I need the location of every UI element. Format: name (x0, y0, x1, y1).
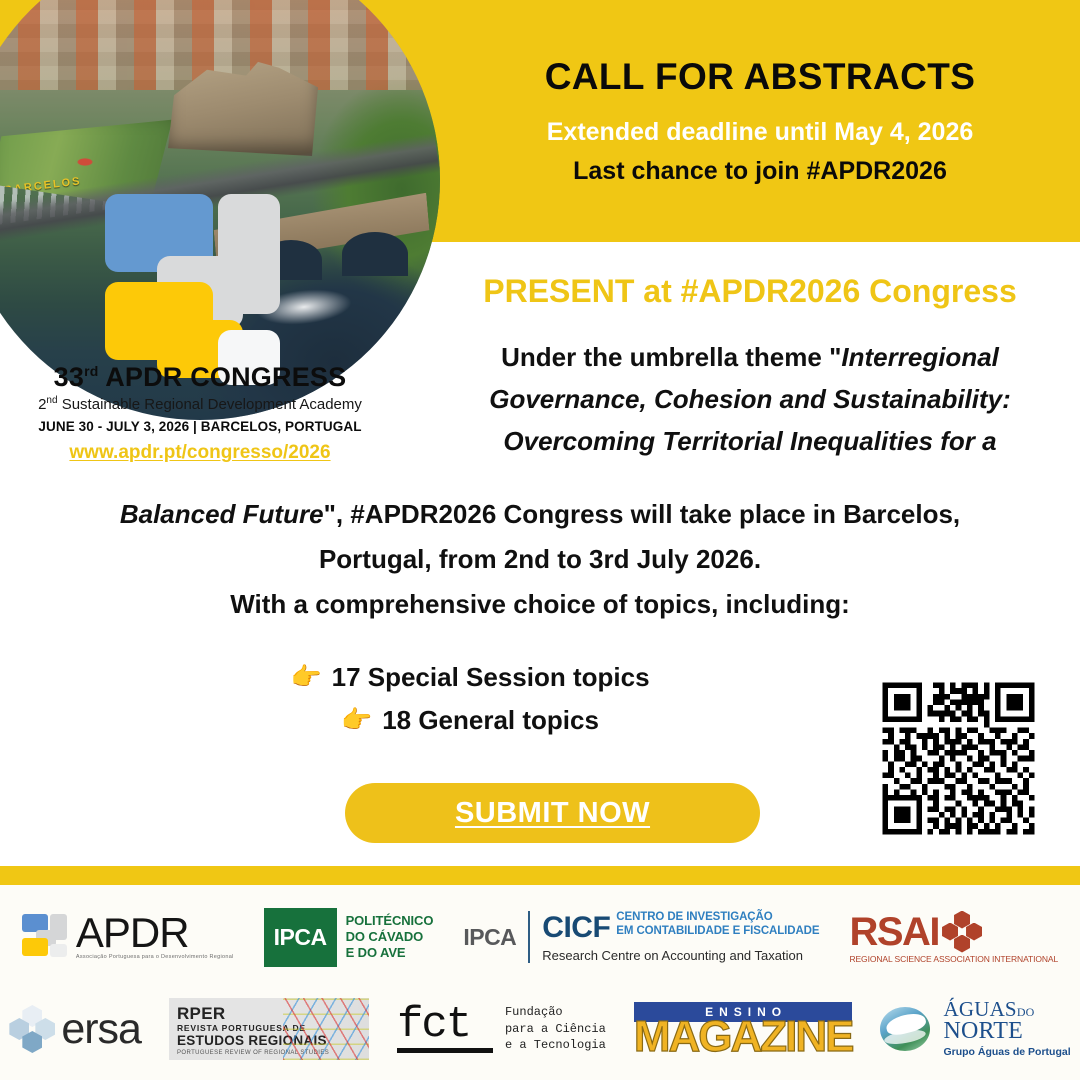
congress-subtitle: 2nd Sustainable Regional Development Aca… (0, 395, 400, 413)
apdr-mark-icon (22, 914, 68, 960)
aguas-tagline: Grupo Águas de Portugal (943, 1046, 1070, 1058)
water-swirl-icon (880, 1003, 938, 1055)
apdr-tagline: Associação Portuguesa para o Desenvolvim… (76, 954, 234, 960)
fct-tag-line-1: Fundação (505, 1004, 606, 1021)
topic-label: 17 Special Session topics (332, 662, 650, 693)
fct-logo: fct Fundação para a Ciência e a Tecnolog… (397, 1004, 606, 1054)
divider (528, 911, 530, 963)
congress-title: 33rd APDR CONGRESS (0, 362, 400, 393)
norte-word: NORTE (943, 1020, 1070, 1043)
photo-bridge-arch (342, 232, 408, 276)
list-item: 👉 18 General topics (120, 705, 820, 736)
ipca-politecnico-logo: IPCA POLITÉCNICO DO CÁVADO E DO AVE (264, 908, 434, 967)
qr-code-svg (877, 677, 1040, 840)
politecnico-line-2: DO CÁVADO (346, 929, 434, 945)
politecnico-line-3: E DO AVE (346, 945, 434, 961)
ersa-wordmark: ersa (61, 1005, 141, 1054)
congress-dates: JUNE 30 - JULY 3, 2026 | BARCELOS, PORTU… (0, 419, 400, 434)
ipca-grey-mark-icon: IPCA (463, 924, 516, 951)
list-item: 👉 17 Special Session topics (120, 662, 820, 693)
topics-intro: With a comprehensive choice of topics, i… (230, 589, 850, 619)
cicf-pt-line-1: CENTRO DE INVESTIGAÇÃO (616, 911, 772, 923)
cicf-portuguese-name: CENTRO DE INVESTIGAÇÃO EM CONTABILIDADE … (616, 911, 819, 938)
last-chance-text: Last chance to join #APDR2026 (573, 157, 947, 186)
page-title: CALL FOR ABSTRACTS (545, 56, 976, 98)
fct-wordmark: fct (397, 1005, 493, 1045)
theme-line-5: Portugal, from 2nd to 3rd July 2026. (319, 544, 761, 574)
magazine-wordmark: MAGAZINE (634, 1018, 853, 1055)
theme-italic-line-1: Interregional (841, 342, 998, 372)
ensino-magazine-logo: ENSINO MAGAZINE (634, 1002, 853, 1055)
apdr-wordmark: APDR (76, 914, 234, 952)
sponsor-row-1: APDR Associação Portuguesa para o Desenv… (0, 885, 1080, 983)
rsai-logo: RSAI REGIONAL SCIENCE ASSOCIATION INTERN… (849, 911, 1058, 964)
aguas-line-1: ÁGUASDO (943, 1000, 1070, 1020)
body-paragraph: Balanced Future", #APDR2026 Congress wil… (40, 492, 1040, 627)
pointing-hand-icon: 👉 (341, 708, 372, 733)
ersa-logo: ersa (9, 1005, 141, 1054)
cicf-pt-line-2: EM CONTABILIDADE E FISCALIDADE (616, 925, 819, 937)
theme-italic-line-2: Governance, Cohesion and Sustainability: (489, 384, 1011, 414)
submit-now-button[interactable]: SUBMIT NOW (345, 783, 760, 843)
apdr-block-yellow (22, 938, 48, 956)
apdr-block-white (50, 944, 67, 957)
theme-italic-line-4: Balanced Future (120, 499, 324, 529)
topics-list: 👉 17 Special Session topics 👉 18 General… (120, 662, 820, 748)
theme-intro-text: Under the umbrella theme " (501, 342, 841, 372)
apdr-block-logo-icon (100, 190, 290, 345)
pointing-hand-icon: 👉 (290, 665, 321, 690)
header-text-group: CALL FOR ABSTRACTS Extended deadline unt… (440, 0, 1080, 242)
rsai-acronym: RSAI (849, 913, 939, 951)
fct-tag-line-3: e a Tecnologia (505, 1037, 606, 1054)
sponsor-row-2: ersa RPER REVISTA PORTUGUESA DE ESTUDOS … (0, 983, 1080, 1075)
footer-sponsors: APDR Associação Portuguesa para o Desenv… (0, 885, 1080, 1080)
fct-tag-line-2: para a Ciência (505, 1021, 606, 1038)
fct-tagline: Fundação para a Ciência e a Tecnologia (505, 1004, 606, 1054)
apdr-logo: APDR Associação Portuguesa para o Desenv… (22, 914, 234, 960)
rper-network-graphic (283, 998, 369, 1060)
congress-lockup: 33rd APDR CONGRESS 2nd Sustainable Regio… (0, 362, 400, 464)
aguas-do-word: DO (1017, 1005, 1035, 1019)
politecnico-text: POLITÉCNICO DO CÁVADO E DO AVE (346, 913, 434, 961)
footer-divider (0, 866, 1080, 885)
rsai-tagline: REGIONAL SCIENCE ASSOCIATION INTERNATION… (849, 954, 1058, 964)
cicf-english-name: Research Centre on Accounting and Taxati… (542, 948, 819, 963)
submit-button-label: SUBMIT NOW (455, 797, 650, 830)
theme-rest-text: ", #APDR2026 Congress will take place in… (324, 499, 961, 529)
qr-code[interactable] (877, 677, 1040, 840)
aguas-do-norte-logo: ÁGUASDO NORTE Grupo Águas de Portugal (880, 1000, 1070, 1059)
rsai-hexagon-icon (942, 911, 982, 953)
ipca-mark-icon: IPCA (264, 908, 337, 967)
theme-paragraph: Under the umbrella theme "Interregional … (425, 336, 1075, 462)
congress-url-link[interactable]: www.apdr.pt/congresso/2026 (69, 442, 330, 464)
present-heading: PRESENT at #APDR2026 Congress (430, 273, 1070, 310)
rper-logo: RPER REVISTA PORTUGUESA DE ESTUDOS REGIO… (169, 998, 369, 1060)
cicf-logo: IPCA CICF CENTRO DE INVESTIGAÇÃO EM CONT… (463, 911, 819, 963)
theme-italic-line-3: Overcoming Territorial Inequalities for … (503, 426, 996, 456)
deadline-text: Extended deadline until May 4, 2026 (547, 118, 974, 147)
ersa-hexagon-icon (9, 1005, 55, 1053)
topic-label: 18 General topics (382, 705, 599, 736)
cicf-acronym: CICF (542, 911, 610, 945)
politecnico-line-1: POLITÉCNICO (346, 913, 434, 929)
